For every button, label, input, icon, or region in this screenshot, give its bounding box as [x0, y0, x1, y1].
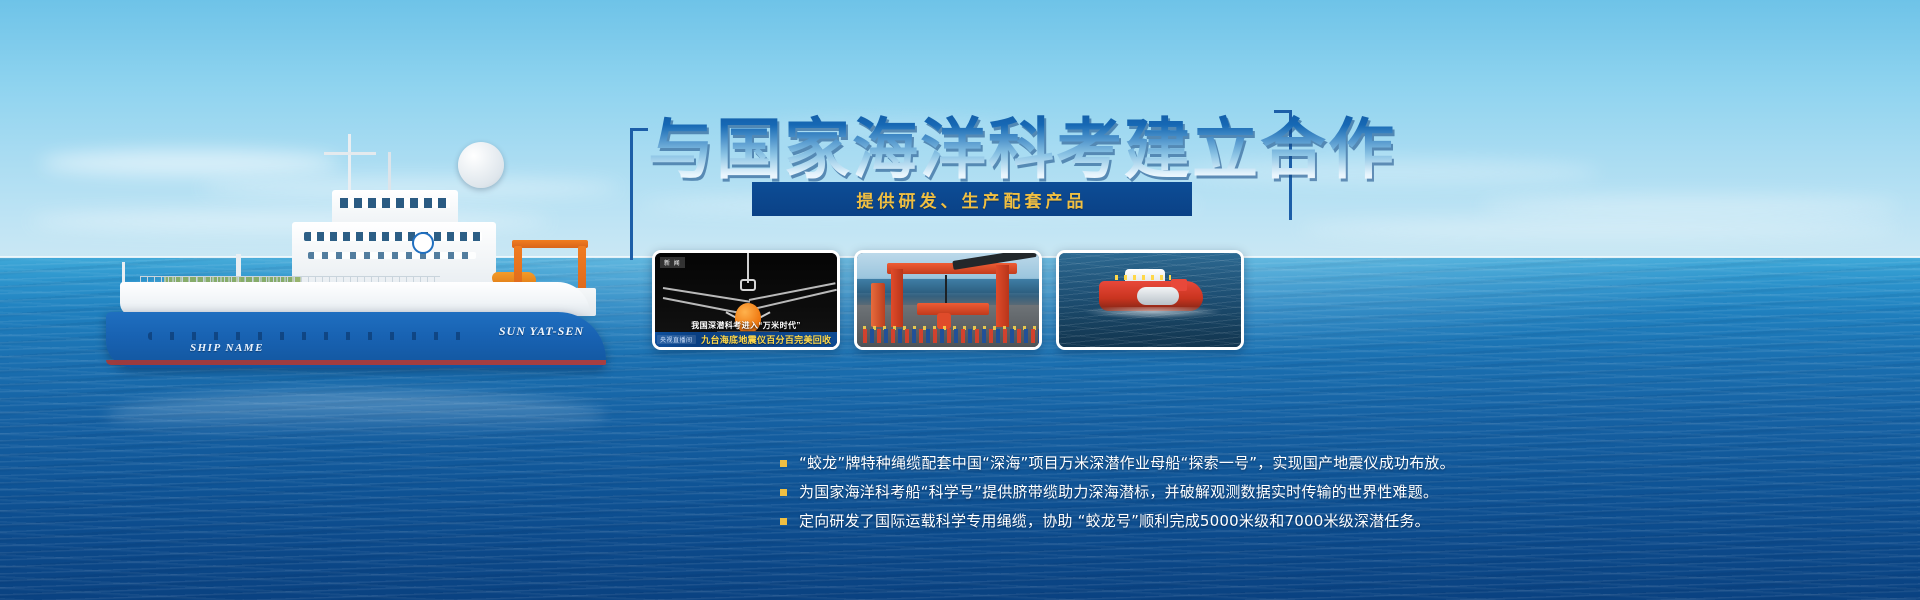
ship-hull: SHIP NAME SUN YAT-SEN [106, 312, 606, 368]
cloud-icon [1480, 196, 1900, 216]
thumb3-crew-row [1115, 275, 1171, 280]
thumb2-crew-row [863, 329, 1039, 343]
thumb2-suspended-equipment [917, 303, 989, 315]
subtitle-banner: 提供研发、生产配套产品 [752, 182, 1192, 216]
thumb2-gantry-right-leg [996, 265, 1009, 327]
bullet-text: 为国家海洋科考船“科学号”提供脐带缆助力深海潜标，并破解观测数据实时传输的世界性… [799, 481, 1438, 503]
thumb2-hoist-wire [945, 275, 947, 305]
headline-block: 与国家海洋科考建立合作 与国家海洋科考建立合作 [636, 96, 1276, 178]
radome-dome-icon [458, 142, 504, 188]
main-deck [120, 282, 590, 316]
a-frame-top-bar [512, 240, 588, 248]
cloud-icon [1300, 220, 1900, 238]
thumbnail-deck-crane-operation[interactable] [854, 250, 1042, 350]
thumb1-caption-headline: 九台海底地震仪百分百完美回收 [696, 333, 837, 346]
thumb3-submersible [1137, 287, 1179, 305]
bullet-list: “蛟龙”牌特种绳缆配套中国“深海”项目万米深潜作业母船“探索一号”，实现国产地震… [780, 452, 1480, 539]
secondary-mast [388, 152, 391, 194]
subtitle-banner-label: 提供研发、生产配套产品 [857, 187, 1088, 212]
thumb2-gantry-left-leg [891, 269, 903, 327]
bullet-text: “蛟龙”牌特种绳缆配套中国“深海”项目万米深潜作业母船“探索一号”，实现国产地震… [799, 452, 1455, 474]
mast-crossbeam [324, 152, 376, 155]
research-vessel-illustration: SHIP NAME SUN YAT-SEN [96, 136, 616, 396]
superstructure-windows-row1 [304, 232, 482, 241]
thumb1-hook-icon [740, 279, 756, 291]
hull-portholes [148, 332, 478, 340]
thumb1-news-tag: 新 闻 [660, 257, 685, 268]
thumbnail-deep-sea-deployment[interactable]: 新 闻 我国深潜科考进入“万米时代” 央视直播间 九台海底地震仪百分百完美回收 [652, 250, 840, 350]
ship-water-reflection [106, 392, 606, 438]
list-item: 为国家海洋科考船“科学号”提供脐带缆助力深海潜标，并破解观测数据实时传输的世界性… [780, 481, 1480, 503]
thumbnail-submersible-recovery[interactable] [1056, 250, 1244, 350]
list-item: “蛟龙”牌特种绳缆配套中国“深海”项目万米深潜作业母船“探索一号”，实现国产地震… [780, 452, 1480, 474]
banner-stage: SHIP NAME SUN YAT-SEN 与国家海洋科考建立合作 与国家海洋科… [0, 0, 1920, 600]
bullet-square-icon [780, 489, 787, 496]
bridge-windows [340, 198, 450, 208]
bullet-square-icon [780, 518, 787, 525]
thumb3-sea-foam [1083, 307, 1223, 319]
hull-name-right: SUN YAT-SEN [499, 324, 584, 339]
page-title: 与国家海洋科考建立合作 [648, 96, 1396, 192]
superstructure-windows-row2 [308, 252, 476, 259]
thumb1-caption-top: 我国深潜科考进入“万米时代” [655, 320, 837, 331]
main-mast [348, 134, 351, 194]
thumbnail-gallery: 新 闻 我国深潜科考进入“万米时代” 央视直播间 九台海底地震仪百分百完美回收 [652, 250, 1244, 350]
list-item: 定向研发了国际运载科学专用绳缆，协助 “蛟龙号”顺利完成5000米级和7000米… [780, 510, 1480, 532]
bracket-left-decoration [630, 128, 648, 260]
funnel-logo-icon [412, 232, 434, 254]
bullet-square-icon [780, 460, 787, 467]
hull-name-left: SHIP NAME [190, 342, 264, 354]
thumb2-red-tower [871, 283, 885, 327]
ship-bridge [332, 190, 458, 226]
thumb1-channel-badge: 央视直播间 [657, 335, 696, 344]
bullet-text: 定向研发了国际运载科学专用绳缆，协助 “蛟龙号”顺利完成5000米级和7000米… [799, 510, 1430, 532]
hull-waterline-stripe [106, 360, 606, 365]
thumb1-caption-bar: 央视直播间 九台海底地震仪百分百完美回收 [655, 332, 837, 347]
